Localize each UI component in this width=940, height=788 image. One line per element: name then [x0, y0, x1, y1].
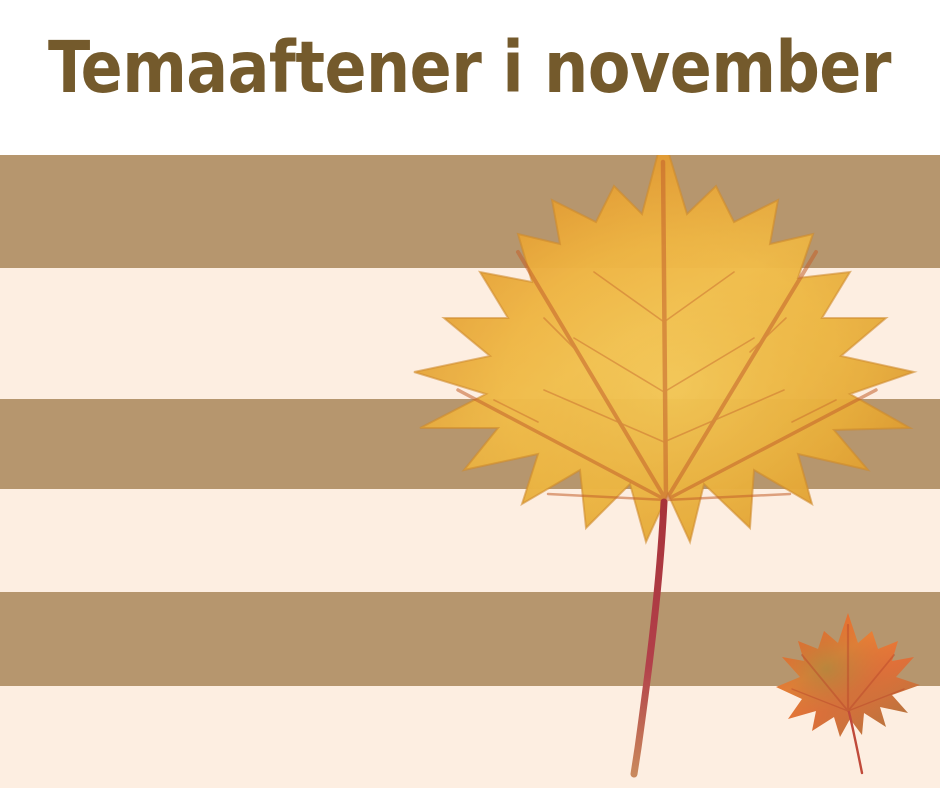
page-title: Temaaftener i november	[48, 26, 891, 110]
title-area: Temaaftener i november	[0, 0, 940, 155]
row-band-2	[0, 268, 940, 399]
row-band-1	[0, 155, 940, 268]
row-band-6	[0, 686, 940, 788]
poster-canvas: Temaaftener i november 01/11 BIPOLAR LID…	[0, 0, 940, 788]
row-band-3	[0, 399, 940, 489]
row-band-4	[0, 489, 940, 592]
row-band-5	[0, 592, 940, 686]
